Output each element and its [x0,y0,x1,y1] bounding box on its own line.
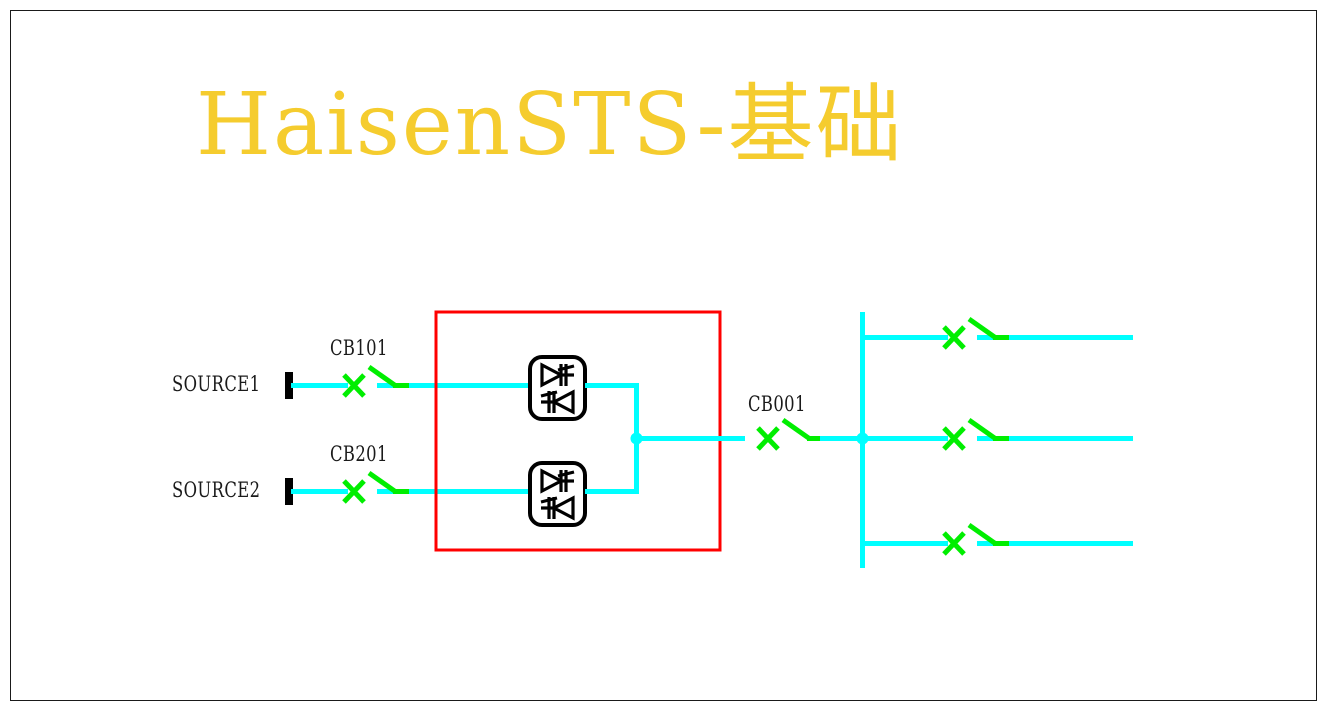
source2-branch [285,473,530,505]
scr-pair-1-module[interactable] [530,357,639,419]
source1-branch [285,367,530,399]
feeder-1 [862,319,1133,348]
feeder-3-switch[interactable] [944,525,1009,554]
scr-pair-1-box [530,357,585,419]
cb101-switch[interactable] [344,367,409,396]
single-line-diagram [0,0,1327,712]
diagram-canvas: HaisenSTS-基础 SOURCE1 SOURCE2 CB101 CB201… [0,0,1327,712]
sts-output-junction-dot [631,433,643,445]
cb201-switch[interactable] [344,473,409,502]
feeder-3 [862,525,1133,554]
feeder-2 [862,420,1133,449]
cb001-switch[interactable] [758,420,823,449]
scr-pair-2-box [530,463,585,525]
scr-pair-2-module[interactable] [530,463,639,525]
cb001-blade [783,420,810,439]
sts-output-combiner [631,386,746,492]
feeder-1-switch[interactable] [944,319,1009,348]
feeder-2-switch[interactable] [944,420,1009,449]
